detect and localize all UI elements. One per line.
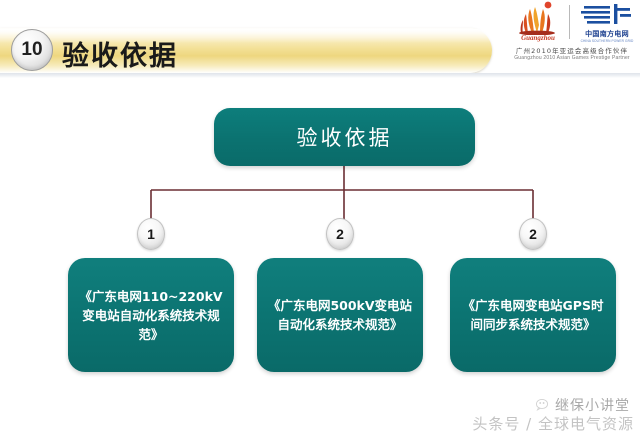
root-node[interactable]: 验收依据 — [214, 108, 475, 166]
slide-number-badge: 10 — [11, 29, 53, 71]
csg-logo-name-en: CHINA SOUTHERN POWER GRID — [576, 39, 638, 44]
leaf-node-1-label: 《广东电网110~220kV变电站自动化系统技术规范》 — [78, 287, 224, 344]
guangzhou-logo-caption: Guangzhou — [510, 34, 566, 42]
page-title: 验收依据 — [62, 34, 178, 73]
leaf-node-3-label: 《广东电网变电站GPS时间同步系统技术规范》 — [460, 296, 606, 334]
node-badge-3: 2 — [519, 218, 547, 250]
watermark: 继保小讲堂 头条号 / 全球电气资源 — [436, 389, 636, 441]
wechat-icon — [536, 399, 551, 411]
guangzhou-2010-logo-icon: Guangzhou — [508, 1, 566, 43]
slide-canvas: 10 验收依据 Guangzhou — [0, 0, 640, 443]
leaf-node-1[interactable]: 《广东电网110~220kV变电站自动化系统技术规范》 — [68, 258, 234, 372]
watermark-text-2: 头条号 / 全球电气资源 — [472, 413, 634, 434]
node-badge-2: 2 — [326, 218, 354, 250]
org-diagram: 验收依据 1 2 2 《广东电网110~220kV变电站自动化系统技术规范》 《… — [0, 78, 640, 378]
logo-row: Guangzhou 中国南方电网 CHINA SOUTHERN POWER — [506, 1, 638, 43]
partner-caption-cn: 广州2010年亚运会高级合作伙伴 — [506, 45, 638, 55]
slide-header: 10 验收依据 Guangzhou — [0, 0, 640, 78]
partner-caption-en: Guangzhou 2010 Asian Games Prestige Part… — [506, 55, 638, 61]
root-node-label: 验收依据 — [297, 122, 393, 152]
leaf-node-2[interactable]: 《广东电网500kV变电站自动化系统技术规范》 — [257, 258, 423, 372]
logo-divider — [569, 5, 570, 39]
leaf-node-3[interactable]: 《广东电网变电站GPS时间同步系统技术规范》 — [450, 258, 616, 372]
node-badge-1: 1 — [137, 218, 165, 250]
watermark-line-1: 继保小讲堂 — [536, 395, 630, 415]
csg-logo-icon: 中国南方电网 CHINA SOUTHERN POWER GRID — [576, 3, 638, 43]
leaf-node-2-label: 《广东电网500kV变电站自动化系统技术规范》 — [267, 296, 413, 334]
sponsor-logo-zone: Guangzhou 中国南方电网 CHINA SOUTHERN POWER — [506, 1, 638, 71]
watermark-text-1: 继保小讲堂 — [555, 395, 630, 415]
csg-logo-name-cn: 中国南方电网 — [576, 30, 638, 39]
